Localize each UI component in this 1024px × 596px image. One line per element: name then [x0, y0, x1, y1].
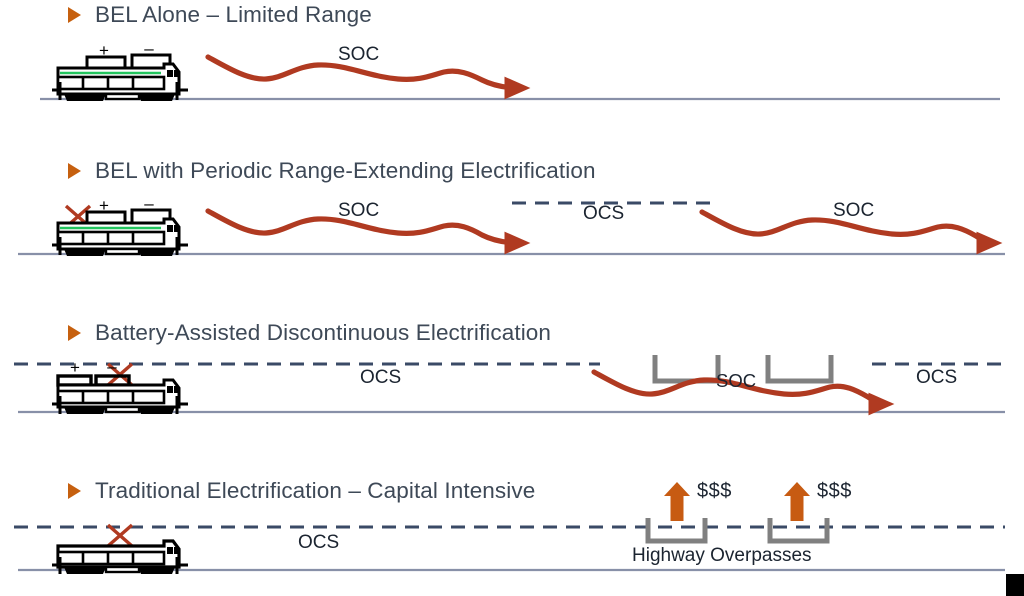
corner-mark [1006, 574, 1024, 596]
roof-box-left [58, 376, 91, 385]
truck-rear [138, 407, 175, 414]
truck-rear [138, 249, 175, 256]
carbody-outline [58, 219, 179, 249]
ocs-label-2: OCS [583, 203, 624, 225]
plus-sign: + [99, 41, 109, 60]
cost-arrow-right [784, 482, 810, 521]
plus-sign: + [70, 358, 80, 377]
plus-sign: + [99, 196, 109, 215]
cab-window-1 [167, 225, 173, 232]
roof-box-right [96, 376, 129, 385]
underframe [106, 249, 139, 254]
locomotive-pantograph-3: + – [52, 357, 188, 414]
body-lower [58, 232, 164, 244]
pantograph-icon [108, 364, 132, 385]
truck-front [64, 567, 106, 574]
cab-window-2 [174, 225, 179, 232]
soc-label-3: SOC [716, 370, 756, 392]
section-3-heading-text: Battery-Assisted Discontinuous Electrifi… [95, 320, 551, 346]
carbody-outline [58, 64, 179, 94]
truck-rear [138, 94, 175, 101]
cab-window-2 [174, 386, 179, 393]
cab-window-2 [174, 70, 179, 77]
ocs-label-3-right: OCS [916, 367, 957, 389]
diagram-canvas: + – [0, 0, 1024, 596]
minus-sign: – [144, 39, 154, 58]
section-3-graphics: + – [14, 355, 1005, 414]
locomotive-battery-1: + – [52, 39, 188, 101]
diagram-graphics-layer: + – [0, 0, 1024, 596]
soc-label-2-left: SOC [338, 200, 379, 222]
pantograph-icon [108, 525, 132, 546]
bullet-triangle-icon [68, 163, 81, 179]
section-2-heading-text: BEL with Periodic Range-Extending Electr… [95, 158, 596, 184]
section-1-heading-text: BEL Alone – Limited Range [95, 2, 372, 28]
cost-label-left: $$$ [697, 480, 732, 503]
soc-label-2-right: SOC [833, 200, 874, 222]
cab-window-2 [174, 547, 179, 554]
roof-box-right [132, 55, 170, 68]
cab-window-1 [167, 547, 173, 554]
locomotive-battery-pantograph-2: + – [52, 194, 188, 256]
cost-arrow-left [664, 482, 690, 521]
ocs-label-3-left: OCS [360, 367, 401, 389]
section-2-heading: BEL with Periodic Range-Extending Electr… [68, 158, 596, 184]
cab-window-1 [167, 70, 173, 77]
highway-overpasses-label: Highway Overpasses [632, 545, 812, 567]
ocs-gap-bracket-left [655, 355, 718, 381]
underframe [106, 567, 139, 572]
carbody-outline [58, 541, 179, 567]
truck-front [64, 94, 106, 101]
bullet-triangle-icon [68, 7, 81, 23]
underframe [106, 94, 139, 99]
underframe [106, 407, 139, 412]
body-lower [58, 552, 164, 564]
truck-front [64, 249, 106, 256]
soc-label-1: SOC [338, 44, 379, 66]
bullet-triangle-icon [68, 325, 81, 341]
carbody-outline [58, 380, 179, 407]
section-3-heading: Battery-Assisted Discontinuous Electrifi… [68, 320, 551, 346]
overpass-bracket-right [770, 518, 827, 541]
roof-box-left [87, 57, 125, 68]
locomotive-electric-4 [52, 525, 188, 574]
roof-box-right [132, 210, 170, 223]
section-4-heading: Traditional Electrification – Capital In… [68, 478, 535, 504]
pantograph-icon [66, 206, 90, 227]
cost-label-right: $$$ [817, 480, 852, 503]
minus-sign: – [144, 194, 154, 213]
truck-rear [138, 567, 175, 574]
roof-box-left [87, 212, 125, 223]
section-1-heading: BEL Alone – Limited Range [68, 2, 372, 28]
ocs-label-4: OCS [298, 532, 339, 554]
ocs-gap-bracket-right [768, 355, 831, 381]
section-1-graphics: + – [40, 39, 1000, 101]
section-4-heading-text: Traditional Electrification – Capital In… [95, 478, 535, 504]
cab-window-1 [167, 386, 173, 393]
minus-sign: – [107, 357, 117, 376]
body-lower [58, 391, 164, 403]
overpass-bracket-left [648, 518, 705, 541]
body-lower [58, 77, 164, 89]
bullet-triangle-icon [68, 483, 81, 499]
truck-front [64, 407, 106, 414]
